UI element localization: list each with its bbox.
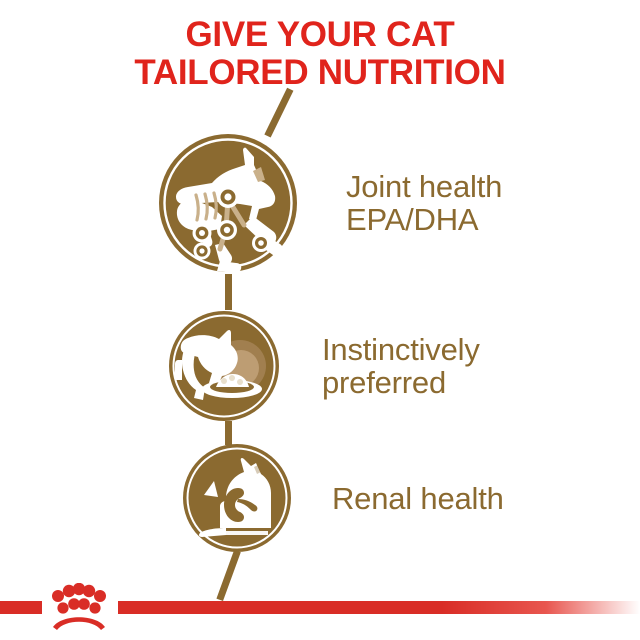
- connector-line-1-2: [225, 274, 232, 310]
- cat-skeleton-joints-icon: [158, 133, 298, 273]
- benefit-item-renal-health: Renal health: [182, 443, 504, 553]
- benefit-label-instinctively-preferred: Instinctively preferred: [322, 333, 480, 399]
- benefit-label-renal-health: Renal health: [332, 482, 504, 515]
- cat-eating-bowl-icon: [168, 310, 280, 422]
- connector-line-2-3: [225, 421, 232, 445]
- page-title: GIVE YOUR CAT TAILORED NUTRITION: [0, 16, 640, 92]
- benefit-label-joint-health: Joint health EPA/DHA: [346, 170, 502, 236]
- royal-canin-crown-icon: [46, 583, 112, 636]
- benefit-item-joint-health: Joint health EPA/DHA: [158, 133, 502, 273]
- benefit-item-instinctively-preferred: Instinctively preferred: [168, 310, 480, 422]
- headline-line-1: GIVE YOUR CAT: [0, 16, 640, 54]
- packaging-infographic: GIVE YOUR CAT TAILORED NUTRITION: [0, 0, 640, 640]
- cat-kidney-icon: [182, 443, 292, 553]
- connector-line-top: [264, 88, 293, 138]
- footer-bar-right: [118, 601, 640, 614]
- footer-bar-left: [0, 601, 42, 614]
- headline-line-2: TAILORED NUTRITION: [0, 54, 640, 92]
- brand-footer: [0, 583, 640, 640]
